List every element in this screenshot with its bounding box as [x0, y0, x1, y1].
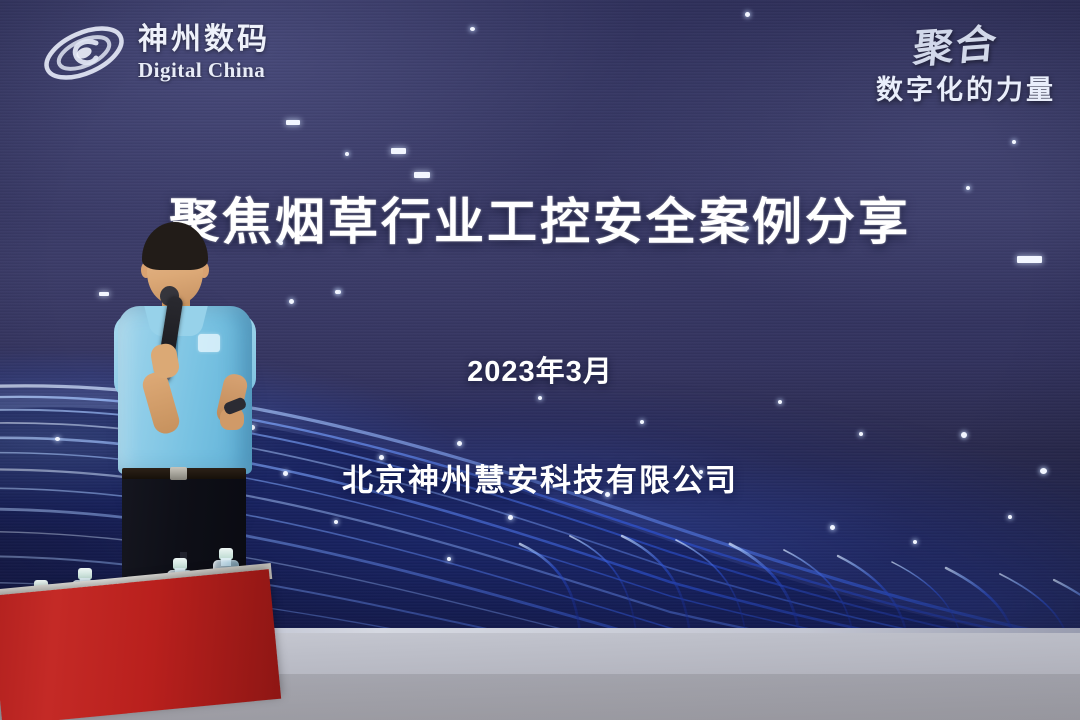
table-skirt: [0, 569, 281, 720]
digital-china-logo: 神州数码 Digital China: [38, 16, 270, 90]
light-particle: [345, 152, 349, 156]
light-particle: [1017, 256, 1042, 263]
light-particle: [289, 299, 294, 304]
light-particle: [1012, 140, 1016, 144]
light-particle: [470, 27, 475, 31]
campaign-brush-text: 聚合: [911, 11, 1001, 75]
galaxy-swirl-icon: [38, 16, 130, 90]
light-particle: [745, 12, 750, 17]
brand-name-cn: 神州数码: [138, 25, 270, 55]
light-particle: [335, 290, 339, 294]
presenter-chest-logo-icon: [198, 334, 220, 352]
campaign-subtitle: 数字化的力量: [876, 68, 1056, 107]
conference-stage-photo: 神州数码 Digital China 聚合 数字化的力量 聚焦烟草行业工控安全案…: [0, 0, 1080, 720]
presenter-hair: [142, 222, 208, 270]
light-particle: [391, 148, 406, 154]
light-particle: [337, 290, 341, 294]
brand-name-en: Digital China: [138, 60, 270, 81]
campaign-logo: 聚合 数字化的力量: [876, 14, 1056, 107]
light-particle: [286, 120, 300, 125]
light-particle: [414, 172, 430, 178]
presenter-belt-buckle: [170, 467, 187, 480]
